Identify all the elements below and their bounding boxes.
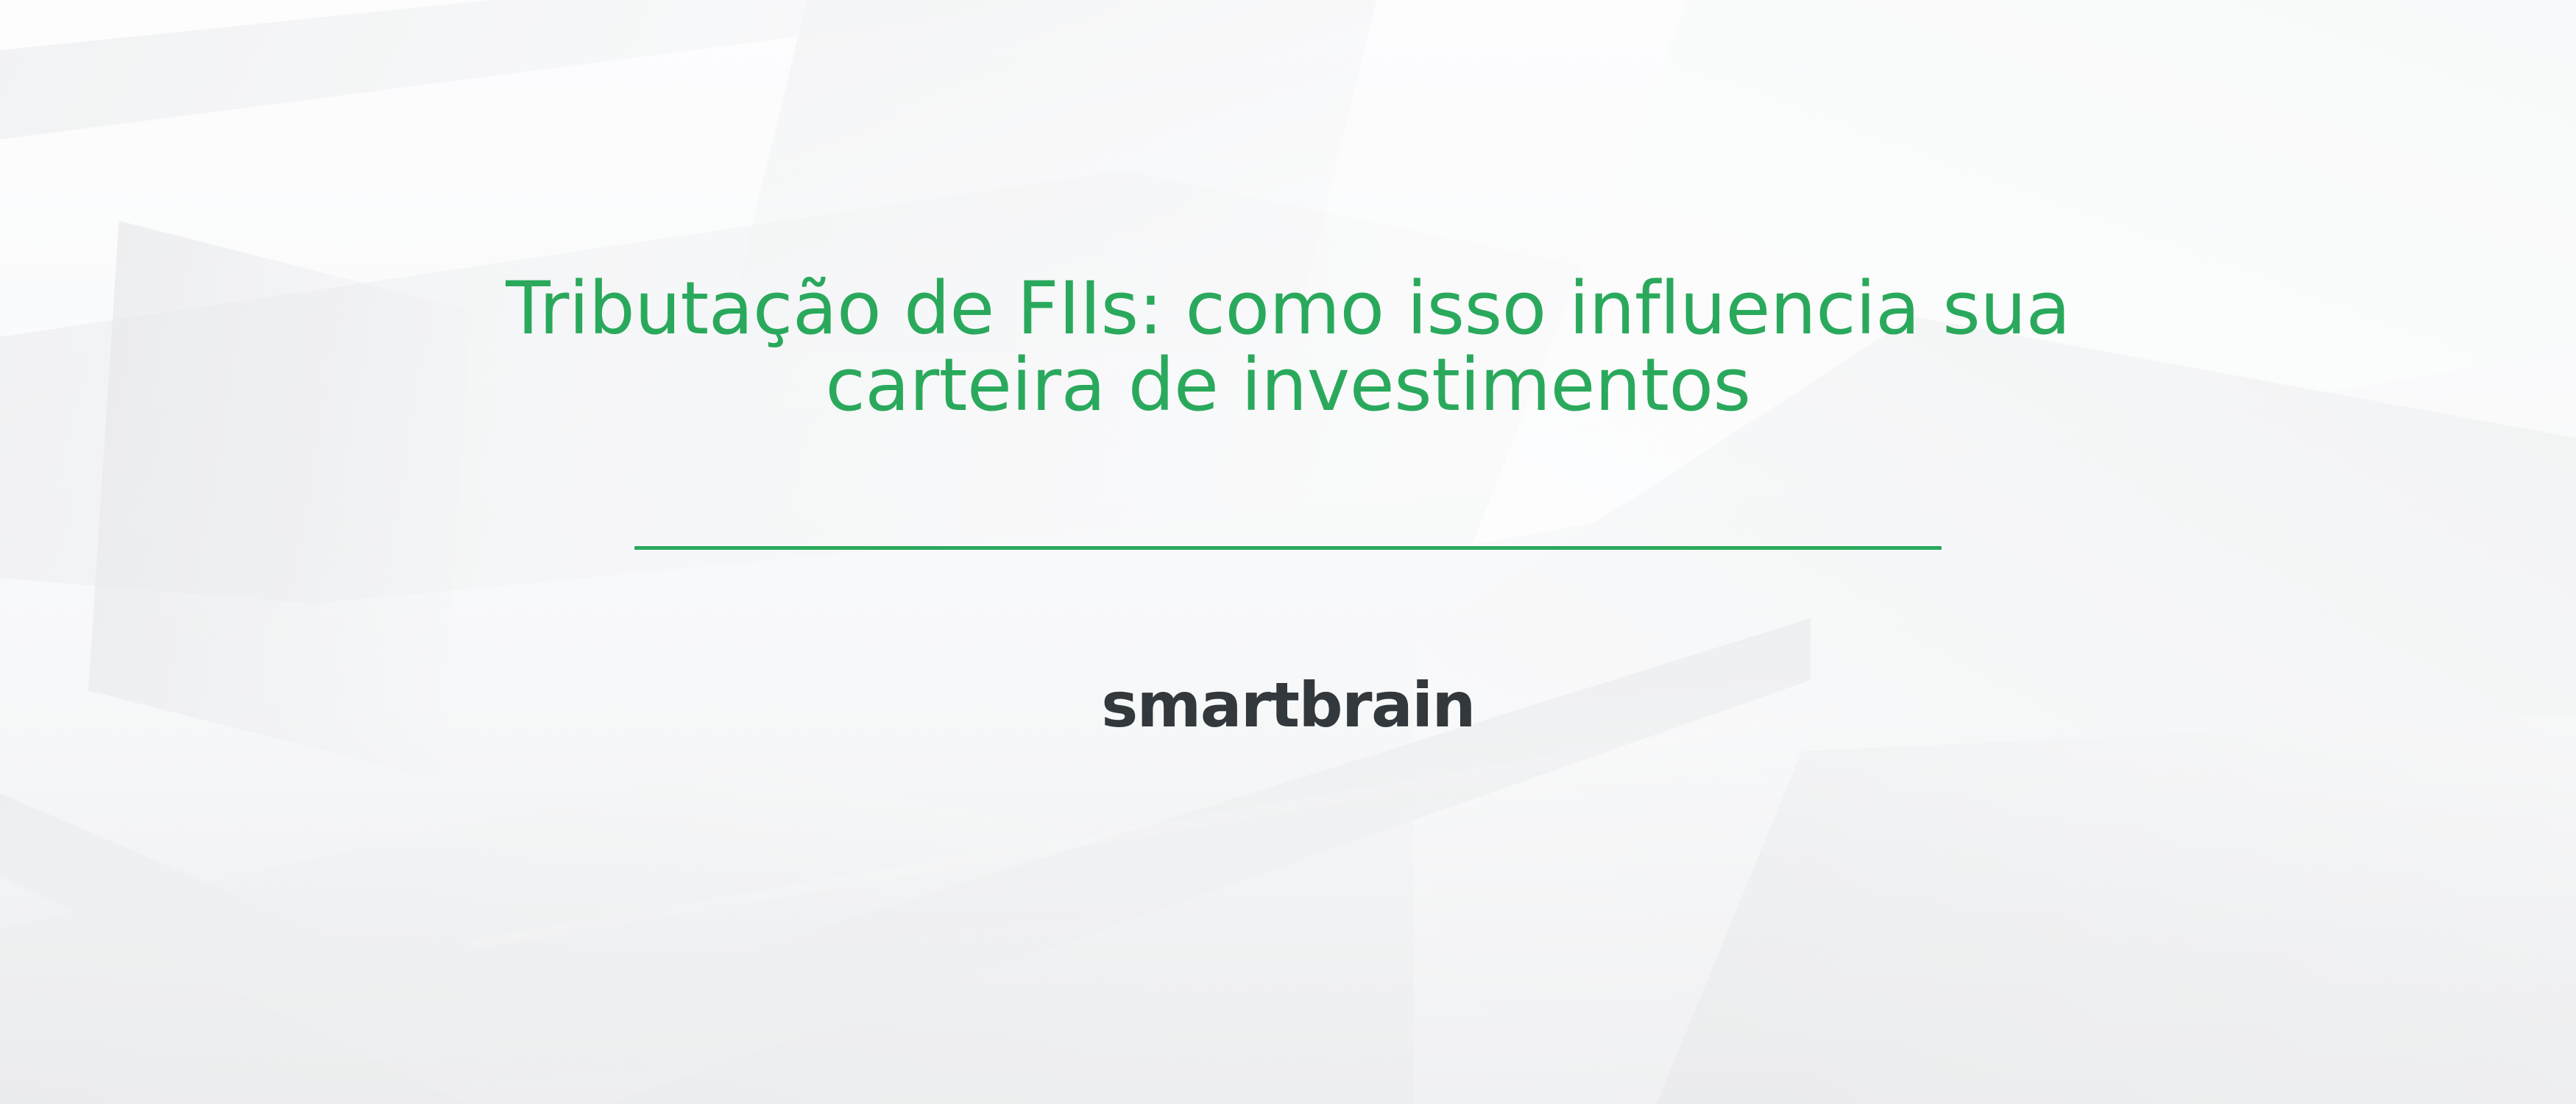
brand-wordmark: smartbrain <box>0 668 2576 742</box>
social-card-canvas: Tributação de FIIs: como isso influencia… <box>0 0 2576 1104</box>
title-divider <box>634 546 1942 550</box>
card-content: Tributação de FIIs: como isso influencia… <box>0 0 2576 1104</box>
page-title: Tributação de FIIs: como isso influencia… <box>405 271 2171 424</box>
title-divider-wrapper <box>0 546 2576 550</box>
